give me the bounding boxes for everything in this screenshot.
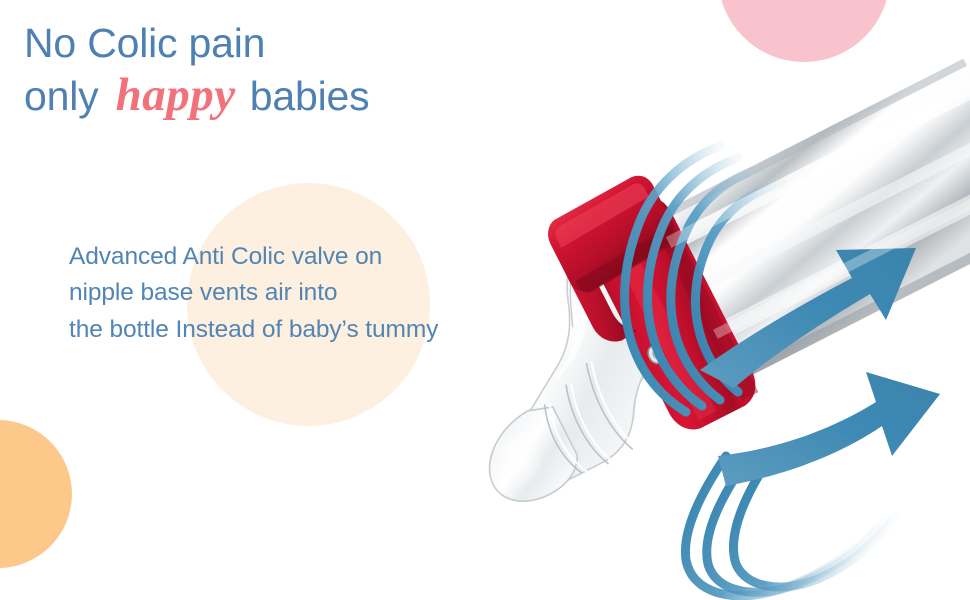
- headline: No Colic pain only happy babies: [24, 20, 369, 122]
- body-copy: Advanced Anti Colic valve on nipple base…: [69, 239, 438, 348]
- decorative-circle-orange: [0, 420, 72, 568]
- body-copy-line-1: Advanced Anti Colic valve on: [69, 239, 438, 275]
- promo-banner: No Colic pain only happy babies Advanced…: [0, 0, 970, 600]
- headline-line-2-suffix: babies: [239, 73, 370, 119]
- body-copy-line-3: the bottle Instead of baby’s tummy: [69, 312, 438, 348]
- headline-emphasis-happy: happy: [110, 69, 239, 121]
- headline-line-1: No Colic pain: [24, 20, 369, 68]
- headline-line-2-prefix: only: [24, 73, 110, 119]
- decorative-circle-pink: [718, 0, 890, 62]
- headline-line-2: only happy babies: [24, 68, 369, 123]
- product-image-bottle: [400, 120, 970, 600]
- airflow-swirl-bottom: [685, 456, 896, 596]
- body-copy-line-2: nipple base vents air into: [69, 275, 438, 311]
